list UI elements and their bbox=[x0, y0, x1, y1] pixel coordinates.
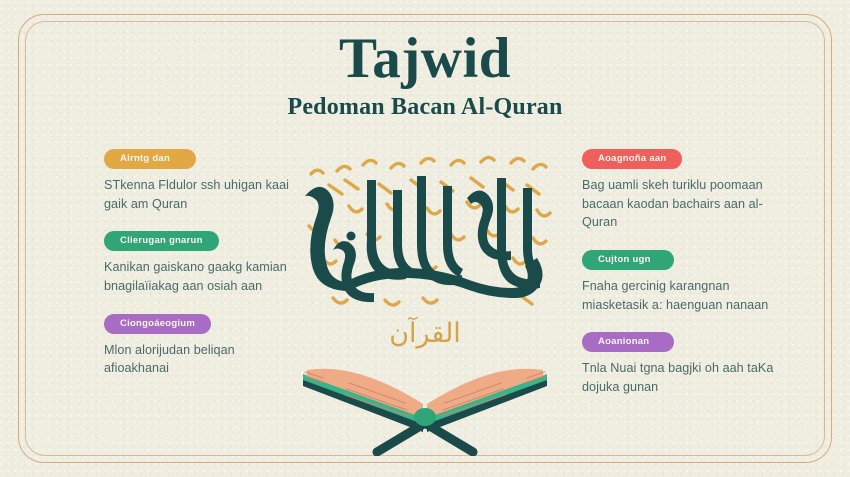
open-quran-book-illustration bbox=[297, 356, 553, 456]
center-artwork: القرآن bbox=[275, 138, 575, 448]
info-block: Airntg dan STkenna Fldulor ssh uhigan ka… bbox=[104, 148, 300, 213]
info-block: Clierugan gnarun Kanikan gaiskano gaakg … bbox=[104, 230, 300, 295]
poster-canvas: Tajwid Pedoman Bacan Al-Quran Airntg dan… bbox=[0, 0, 850, 477]
page-subtitle: Pedoman Bacan Al-Quran bbox=[0, 94, 850, 121]
info-block: Ciongoáeogium Mlon alorijudan beliqan af… bbox=[104, 313, 300, 378]
block-body-text: Tnla Nuai tgna bagjki oh aah taKa dojuka… bbox=[582, 359, 778, 396]
info-block: Aoagnoña aan Bag uamli skeh turiklu poom… bbox=[582, 148, 778, 232]
arabic-calligraphy-illustration bbox=[275, 138, 575, 318]
status-badge: Ciongoáeogium bbox=[104, 314, 211, 334]
page-title: Tajwid bbox=[0, 30, 850, 88]
status-badge: Aoanionan bbox=[582, 332, 674, 352]
status-badge: Aoagnoña aan bbox=[582, 149, 682, 169]
block-body-text: Fnaha gercinig karangnan miasketasik a: … bbox=[582, 277, 778, 314]
info-block: Cujton ugn Fnaha gercinig karangnan mias… bbox=[582, 249, 778, 314]
status-badge: Clierugan gnarun bbox=[104, 231, 219, 251]
block-body-text: STkenna Fldulor ssh uhigan kaai gaik am … bbox=[104, 176, 300, 213]
status-badge: Airntg dan bbox=[104, 149, 196, 169]
block-body-text: Kanikan gaiskano gaakg kamian bnagilaïia… bbox=[104, 258, 300, 295]
block-body-text: Bag uamli skeh turiklu poomaan bacaan ka… bbox=[582, 176, 778, 232]
left-column: Airntg dan STkenna Fldulor ssh uhigan ka… bbox=[104, 148, 300, 378]
info-block: Aoanionan Tnla Nuai tgna bagjki oh aah t… bbox=[582, 331, 778, 396]
poster-header: Tajwid Pedoman Bacan Al-Quran bbox=[0, 30, 850, 121]
quran-arabic-label: القرآن bbox=[275, 320, 575, 347]
block-body-text: Mlon alorijudan beliqan afioakhanai bbox=[104, 341, 300, 378]
status-badge: Cujton ugn bbox=[582, 250, 674, 270]
right-column: Aoagnoña aan Bag uamli skeh turiklu poom… bbox=[582, 148, 778, 396]
